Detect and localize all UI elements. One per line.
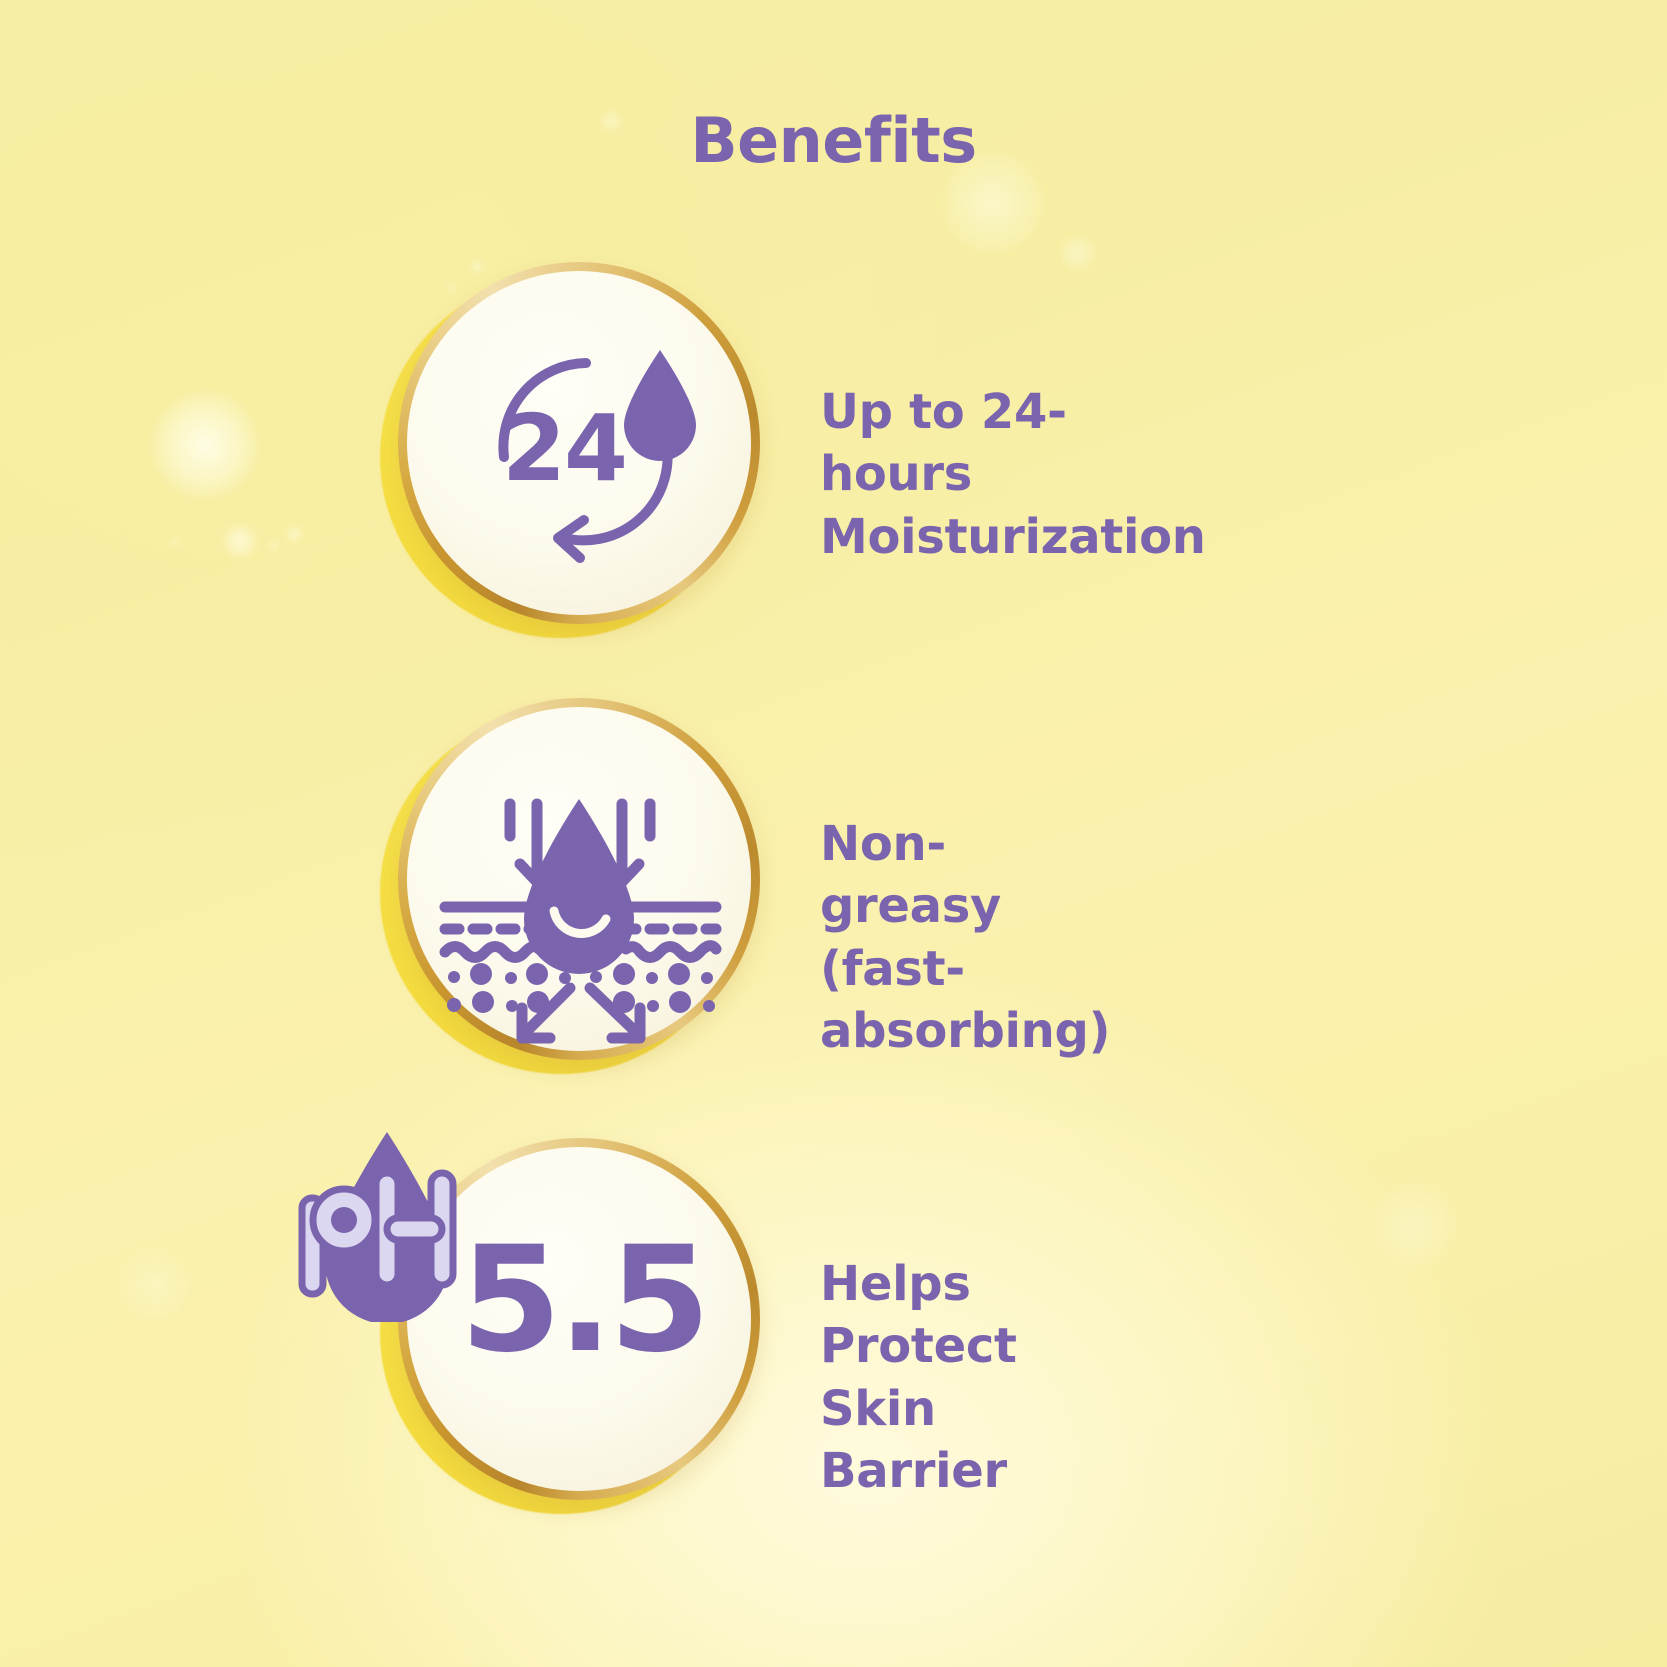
benefit-label-1: Up to 24-hours Moisturization bbox=[820, 381, 1206, 568]
bokeh-light bbox=[120, 1250, 190, 1320]
page-title: Benefits bbox=[0, 104, 1667, 177]
svg-text:24: 24 bbox=[502, 395, 626, 502]
bokeh-light bbox=[1060, 235, 1096, 271]
benefit-label-2: Non-greasy (fast-absorbing) bbox=[820, 813, 1110, 1063]
ph-value-text: 5.5 bbox=[460, 1215, 700, 1385]
bokeh-light bbox=[170, 537, 180, 547]
ph-balance-icon bbox=[292, 1126, 478, 1322]
bokeh-light bbox=[222, 523, 258, 559]
24-hour-hydration-icon: 24 bbox=[398, 262, 760, 624]
benefits-poster: Benefits 24 Up to bbox=[0, 0, 1667, 1667]
benefit-badge-1: 24 bbox=[398, 262, 760, 624]
bokeh-light bbox=[150, 390, 260, 500]
bokeh-light bbox=[268, 540, 280, 552]
benefit-badge-2 bbox=[398, 698, 760, 1060]
bokeh-light bbox=[285, 525, 303, 543]
fast-absorbing-skin-layers-icon bbox=[398, 698, 760, 1060]
benefit-label-3: Helps Protect Skin Barrier bbox=[820, 1253, 1017, 1503]
bokeh-light bbox=[1370, 1180, 1460, 1270]
